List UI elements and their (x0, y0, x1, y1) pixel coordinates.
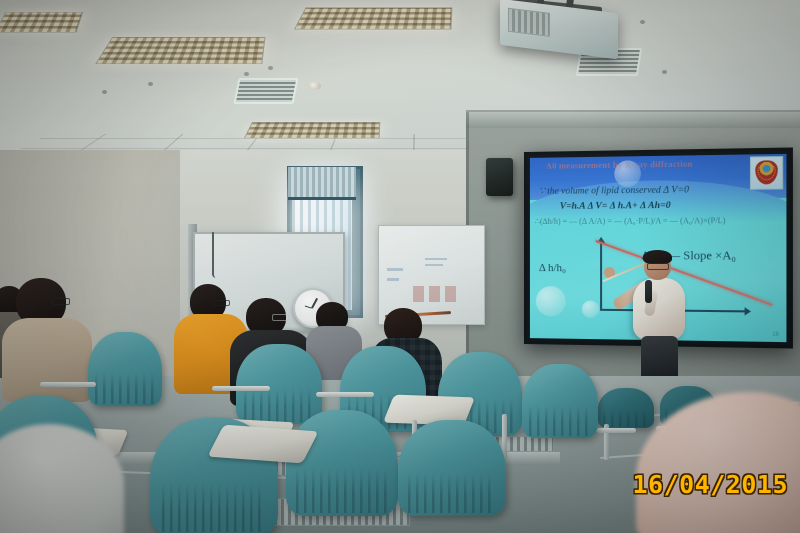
presenter-torso (633, 278, 685, 340)
ceiling-fitting (148, 82, 153, 86)
slide-premise-text: ∵ the volume of lipid conserved Δ V=0 (539, 184, 689, 197)
slide-equation-2: ∴(Δh/h) = — (Δ A/A) = — (A₀·P/L)/A = — (… (535, 216, 726, 226)
chair[interactable] (236, 344, 322, 424)
ceiling-fitting (268, 66, 273, 70)
smartboard-cable (212, 232, 216, 278)
blinds-valance (288, 167, 356, 200)
whiteboard-marking (425, 258, 447, 260)
whiteboard-marking (425, 264, 443, 266)
lecture-hall-photo: A0 measurement by X-ray diffraction ∵ th… (0, 0, 800, 533)
university-crest-logo (750, 156, 783, 190)
chair[interactable] (598, 388, 654, 428)
camera-date-stamp: 16/04/2015 (632, 470, 788, 499)
wall-speaker (486, 158, 513, 196)
whiteboard-marking (445, 286, 456, 302)
ceiling-fitting (662, 70, 667, 74)
chair[interactable] (88, 332, 162, 406)
eyeglasses-icon (52, 298, 70, 305)
presenter-hair (643, 250, 672, 264)
chair[interactable] (286, 410, 398, 516)
ceiling-fitting (102, 90, 107, 94)
ceiling-light-fixture (0, 12, 83, 33)
ceiling-fitting (640, 20, 645, 24)
chair[interactable] (398, 420, 506, 516)
whiteboard-marking (387, 268, 403, 271)
eyeglasses-icon (272, 314, 289, 321)
ceiling-vent (233, 78, 298, 104)
chair-armrest (596, 428, 636, 433)
decorative-sphere (536, 286, 566, 316)
eyeglasses-icon (214, 300, 230, 306)
presenter (622, 248, 698, 380)
crest-icon (755, 160, 778, 184)
chair-armrest (316, 392, 374, 397)
chair[interactable] (522, 364, 598, 438)
whiteboard-marking (387, 278, 399, 281)
chair-armrest (212, 386, 270, 391)
whiteboard-marking (429, 286, 440, 302)
ceiling-light-fixture (294, 7, 453, 29)
chair-armrest (40, 382, 96, 387)
graph-y-axis (600, 242, 602, 311)
eyeglasses-icon (647, 263, 669, 270)
slide-equation-1: V=h.A Δ V= Δ h.A+ Δ Ah=0 (560, 201, 671, 212)
slide-number: 18 (772, 331, 779, 337)
attendee-body (2, 318, 92, 402)
ceiling-light-fixture (95, 37, 265, 64)
wall-trim (466, 112, 800, 128)
tablet-desk[interactable] (207, 425, 318, 464)
whiteboard-marking (413, 286, 424, 302)
handheld-microphone (645, 280, 652, 303)
ceiling-fitting (244, 72, 249, 76)
ceiling-light-fixture (244, 122, 381, 138)
graph-y-axis-label: Δ h/h₀ (539, 262, 566, 274)
smoke-detector (308, 82, 321, 90)
decorative-sphere (582, 301, 599, 318)
